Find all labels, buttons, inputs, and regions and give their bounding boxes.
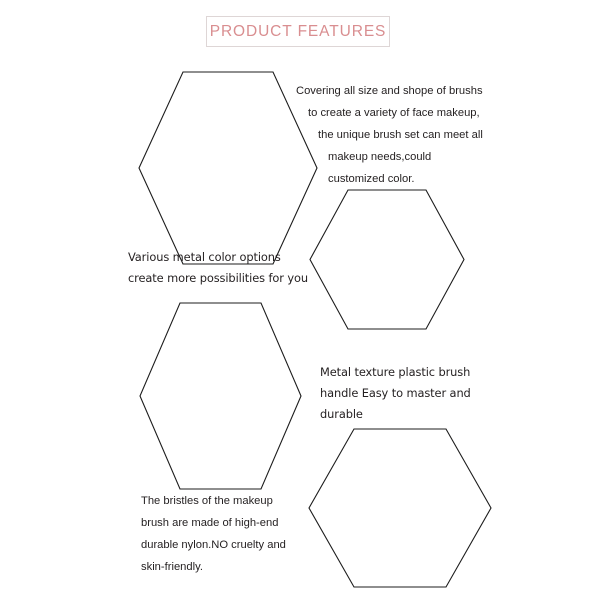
feature-text-handle: Metal texture plastic brush handle Easy … xyxy=(320,362,471,425)
feature-text-line: to create a variety of face makeup, xyxy=(296,102,483,124)
feature-text-bristles: The bristles of the makeup brush are mad… xyxy=(141,490,286,578)
feature-image-handle xyxy=(139,302,302,490)
feature-text-line: handle Easy to master and xyxy=(320,383,471,404)
feature-text-line: makeup needs,could xyxy=(296,146,483,168)
feature-image-coverage xyxy=(138,71,318,265)
feature-text-line: skin-friendly. xyxy=(141,556,286,578)
feature-text-line: the unique brush set can meet all xyxy=(296,124,483,146)
feature-text-line: durable xyxy=(320,404,471,425)
feature-text-line: Covering all size and shope of brushs xyxy=(296,80,483,102)
page-title: PRODUCT FEATURES xyxy=(210,23,387,41)
feature-text-coverage: Covering all size and shope of brushs to… xyxy=(296,80,483,190)
feature-text-line: create more possibilities for you xyxy=(128,268,308,289)
feature-text-line: Various metal color options xyxy=(128,247,308,268)
feature-image-metal-color xyxy=(309,189,465,330)
feature-text-line: The bristles of the makeup xyxy=(141,490,286,512)
feature-image-bristles xyxy=(308,428,492,588)
feature-text-metal-color: Various metal color options create more … xyxy=(128,247,308,289)
feature-text-line: customized color. xyxy=(296,168,483,190)
page-title-box: PRODUCT FEATURES xyxy=(206,16,390,47)
feature-text-line: durable nylon.NO cruelty and xyxy=(141,534,286,556)
feature-text-line: brush are made of high-end xyxy=(141,512,286,534)
feature-text-line: Metal texture plastic brush xyxy=(320,362,471,383)
